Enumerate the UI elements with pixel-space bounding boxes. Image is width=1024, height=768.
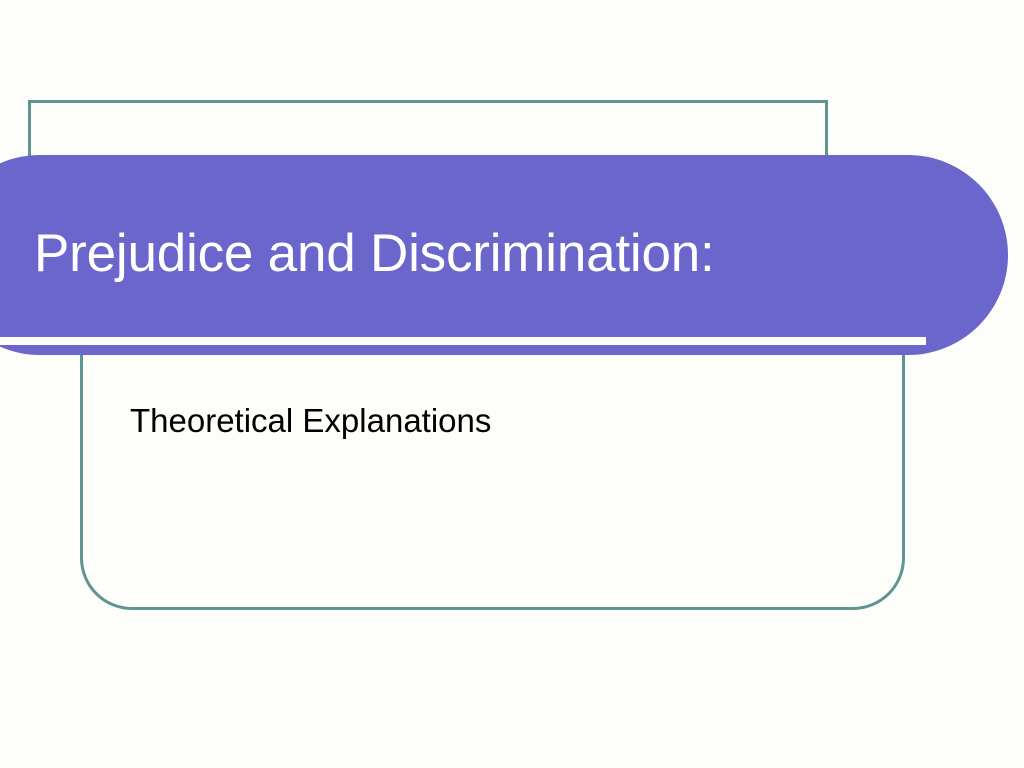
slide-title: Prejudice and Discrimination: bbox=[34, 214, 934, 294]
presentation-slide: Prejudice and Discrimination: Theoretica… bbox=[0, 0, 1024, 768]
slide-subtitle: Theoretical Explanations bbox=[130, 398, 850, 444]
banner-divider-stripe bbox=[0, 337, 926, 345]
